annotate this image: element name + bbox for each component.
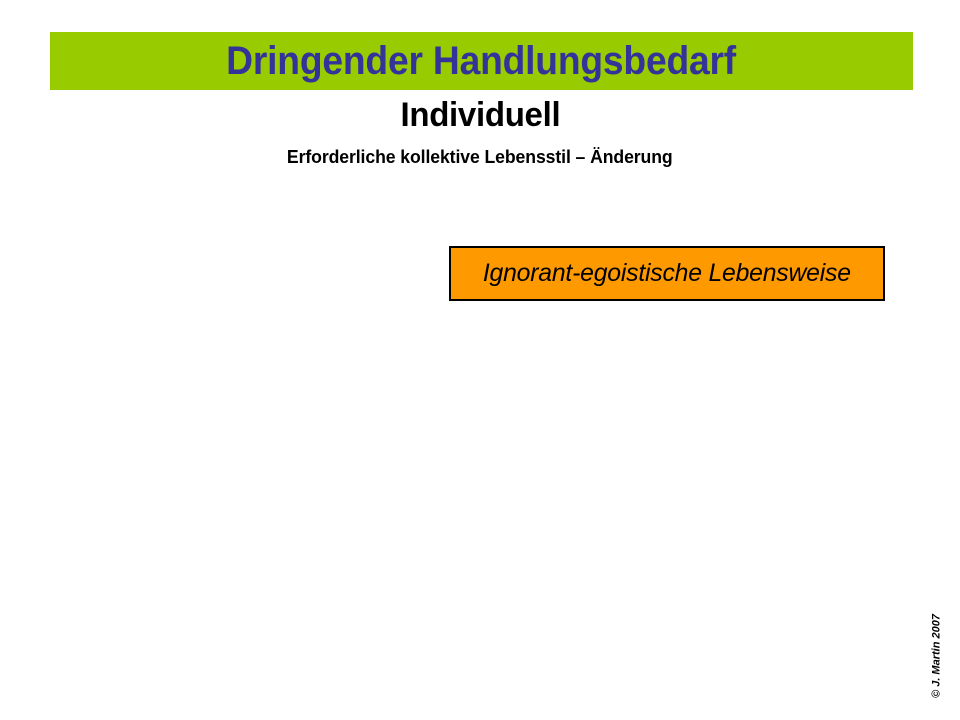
headline: Individuell xyxy=(400,98,560,134)
slide-title: Dringender Handlungsbedarf xyxy=(227,41,737,81)
subheadline: Erforderliche kollektive Lebensstil – Än… xyxy=(287,148,673,168)
lifestyle-callout-box: Ignorant-egoistische Lebensweise xyxy=(449,246,885,301)
title-banner: Dringender Handlungsbedarf xyxy=(50,32,913,90)
slide-canvas: Dringender Handlungsbedarf Individuell E… xyxy=(0,0,960,720)
copyright-notice: © J. Martin 2007 xyxy=(932,614,943,698)
subheadline-container: Erforderliche kollektive Lebensstil – Än… xyxy=(0,148,960,168)
copyright-container: © J. Martin 2007 xyxy=(928,596,946,716)
headline-container: Individuell xyxy=(0,98,960,134)
lifestyle-callout-label: Ignorant-egoistische Lebensweise xyxy=(483,261,851,286)
